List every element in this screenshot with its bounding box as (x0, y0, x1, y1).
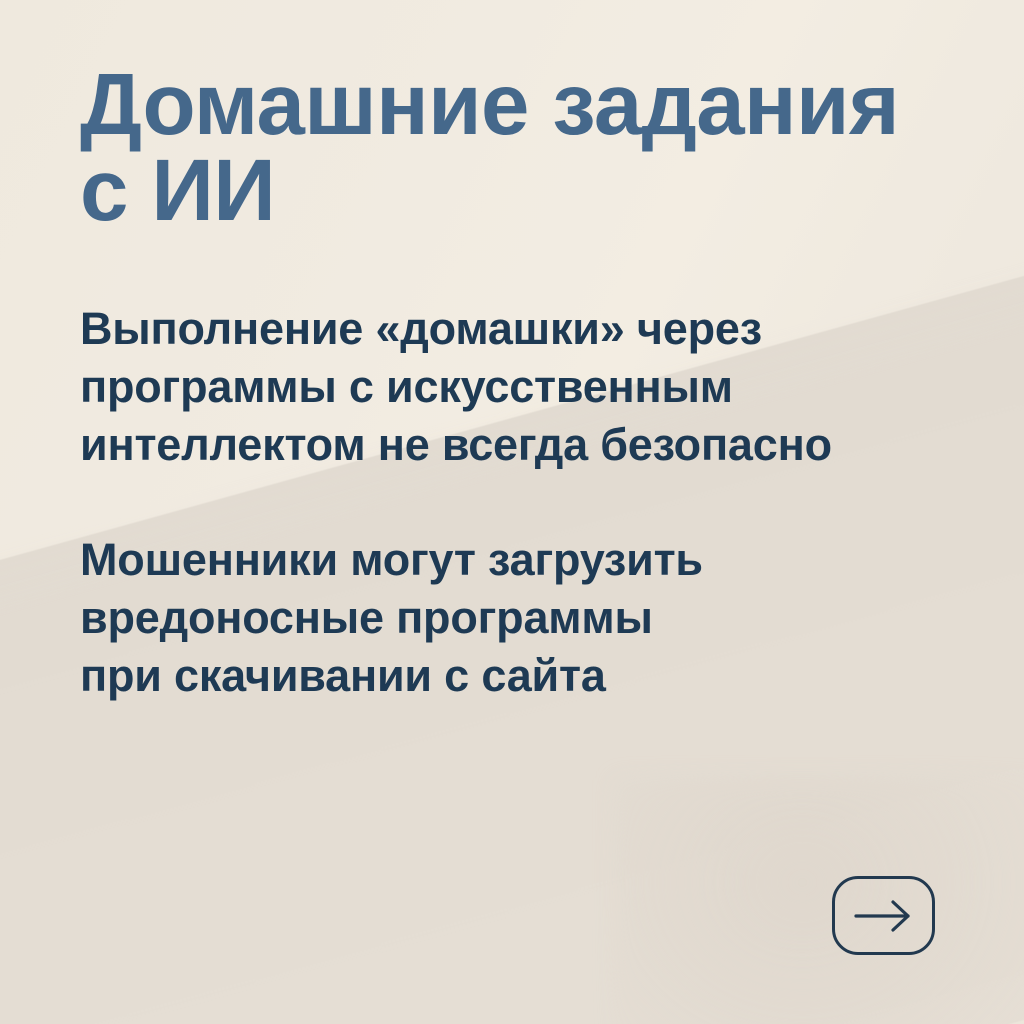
page-title: Домашние задания с ИИ (80, 62, 899, 234)
slide-card: Домашние задания с ИИ Выполнение «домашк… (0, 0, 1024, 1024)
arrow-right-icon (854, 899, 914, 933)
content-area: Домашние задания с ИИ Выполнение «домашк… (80, 0, 964, 1024)
body-paragraph-1: Выполнение «домашки» через программы с и… (80, 300, 920, 474)
next-slide-button[interactable] (832, 876, 935, 955)
body-paragraph-2: Мошенники могут загрузить вредоносные пр… (80, 531, 920, 705)
body-text-block: Выполнение «домашки» через программы с и… (80, 300, 920, 705)
